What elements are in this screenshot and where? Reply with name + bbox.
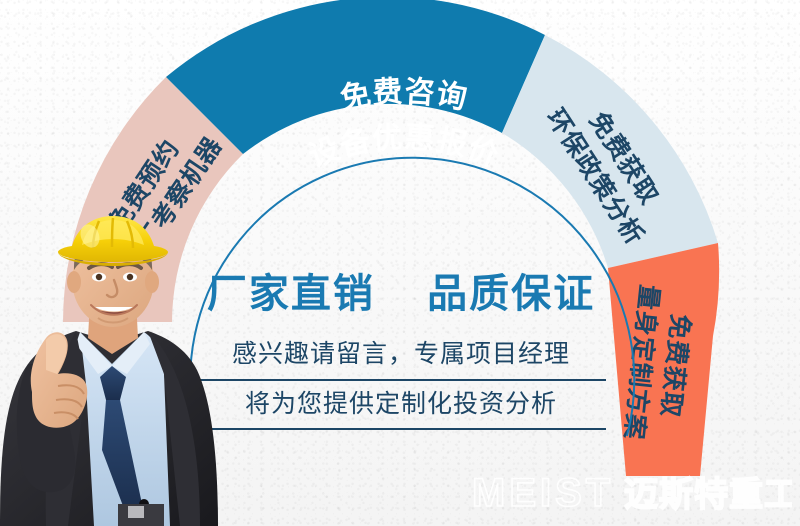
center-message: 厂家直销 品质保证 感兴趣请留言，专属项目经理 将为您提供定制化投资分析 [196,272,606,430]
promo-banner: 免费预约 到厂考察机器 免费咨询 设备优惠报价 免费获取 环保政策分析 [0,0,800,526]
headline-left: 厂家直销 [207,272,375,316]
hard-hat [58,216,168,266]
arc-segment-custom[interactable]: 免费获取 量身定制方案 [608,243,719,476]
divider-bottom [196,428,606,430]
headline-right: 品质保证 [427,272,595,316]
headline: 厂家直销 品质保证 [196,272,606,316]
arc-segment-policy[interactable]: 免费获取 环保政策分析 [502,35,718,268]
businessman-illustration [0,214,226,526]
subline-2: 将为您提供定制化投资分析 [196,381,606,428]
subline-1: 感兴趣请留言，专属项目经理 [196,334,606,379]
